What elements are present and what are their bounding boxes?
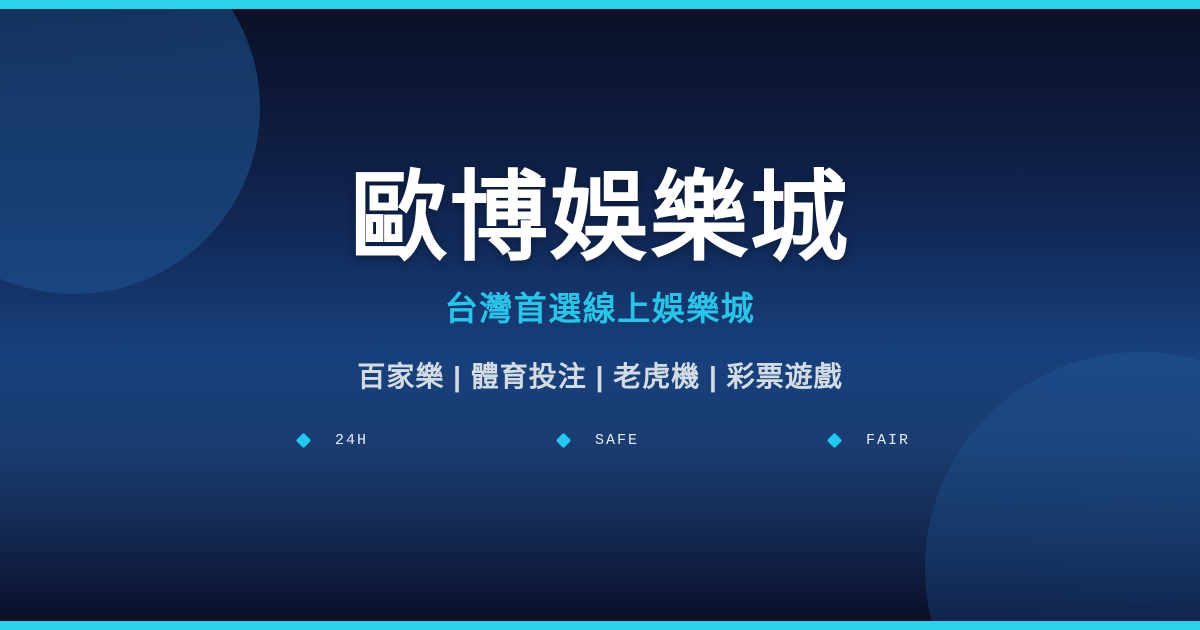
bottom-accent-bar bbox=[0, 621, 1200, 630]
badge-label: 24H bbox=[335, 433, 368, 448]
badge-label: FAIR bbox=[866, 433, 910, 448]
diamond-icon bbox=[556, 433, 572, 449]
brand-title: 歐博娛樂城 bbox=[350, 168, 850, 266]
badge-row: 24H SAFE FAIR bbox=[290, 433, 910, 448]
badge-24h: 24H bbox=[298, 433, 368, 448]
top-accent-bar bbox=[0, 0, 1200, 9]
badge-label: SAFE bbox=[595, 433, 639, 448]
promo-banner: 歐博娛樂城 台灣首選線上娛樂城 百家樂 | 體育投注 | 老虎機 | 彩票遊戲 … bbox=[0, 0, 1200, 630]
badge-safe: SAFE bbox=[558, 433, 639, 448]
feature-list: 百家樂 | 體育投注 | 老虎機 | 彩票遊戲 bbox=[357, 363, 842, 391]
diamond-icon bbox=[827, 433, 843, 449]
banner-content: 歐博娛樂城 台灣首選線上娛樂城 百家樂 | 體育投注 | 老虎機 | 彩票遊戲 … bbox=[0, 0, 1200, 630]
brand-subtitle: 台灣首選線上娛樂城 bbox=[445, 292, 756, 325]
diamond-icon bbox=[296, 433, 312, 449]
badge-fair: FAIR bbox=[829, 433, 910, 448]
